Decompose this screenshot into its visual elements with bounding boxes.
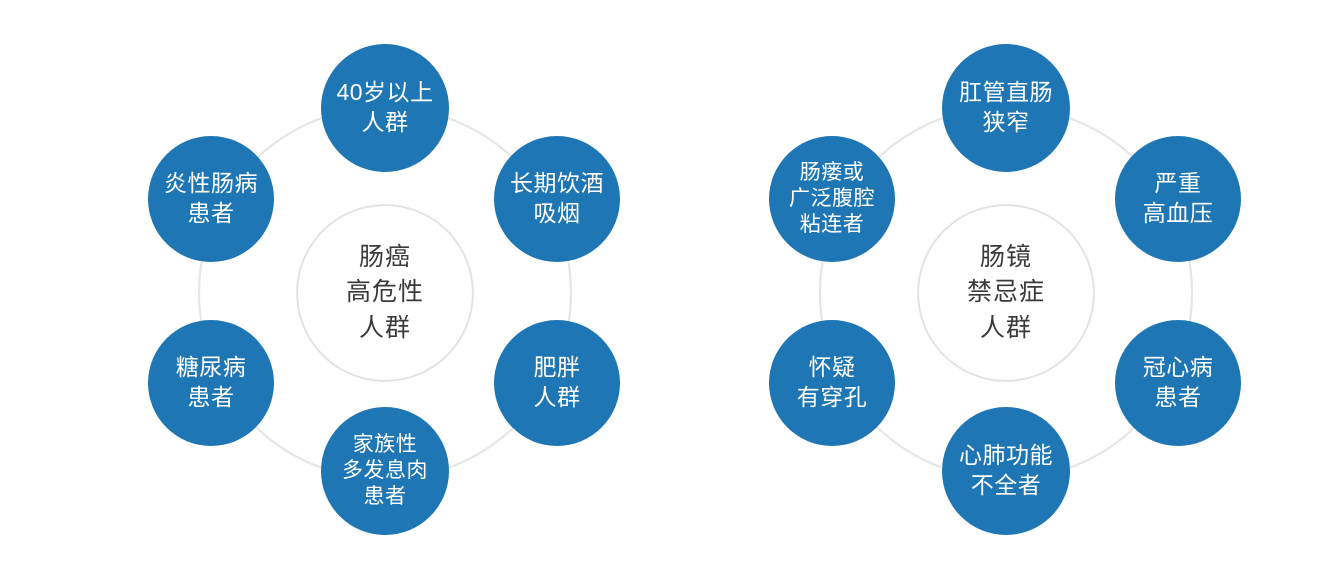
node-label: 严重 高血压: [1137, 169, 1220, 229]
node-label: 冠心病 患者: [1137, 353, 1220, 413]
node-coronary-heart-disease-patients[interactable]: 冠心病 患者: [1115, 320, 1241, 446]
node-severe-hypertension[interactable]: 严重 高血压: [1115, 136, 1241, 262]
node-diabetes-patients[interactable]: 糖尿病 患者: [148, 320, 274, 446]
node-label: 肠瘘或 广泛腹腔 粘连者: [783, 160, 881, 238]
node-label: 心肺功能 不全者: [953, 441, 1059, 501]
node-age-over-40[interactable]: 40岁以上 人群: [321, 44, 449, 172]
node-suspected-perforation[interactable]: 怀疑 有穿孔: [769, 320, 895, 446]
node-label: 肛管直肠 狭窄: [953, 78, 1059, 138]
node-label: 怀疑 有穿孔: [791, 353, 874, 413]
node-inflammatory-bowel-disease-patients[interactable]: 炎性肠病 患者: [148, 136, 274, 262]
node-label: 长期饮酒 吸烟: [504, 169, 610, 229]
node-label: 炎性肠病 患者: [158, 169, 264, 229]
hub-colonoscopy-contraindications: 肠镜 禁忌症 人群: [918, 205, 1094, 381]
node-familial-polyposis-patients[interactable]: 家族性 多发息肉 患者: [321, 407, 449, 535]
diagram-canvas: 肠癌 高危性 人群 40岁以上 人群 长期饮酒 吸烟 肥胖 人群 家族性 多发息…: [0, 0, 1338, 586]
node-long-term-drinking-smoking[interactable]: 长期饮酒 吸烟: [494, 136, 620, 262]
hub-label: 肠癌 高危性 人群: [346, 240, 424, 347]
hub-label: 肠镜 禁忌症 人群: [967, 240, 1045, 347]
node-anal-rectal-stenosis[interactable]: 肛管直肠 狭窄: [942, 44, 1070, 172]
node-label: 40岁以上 人群: [330, 78, 439, 138]
hub-bowel-cancer-high-risk: 肠癌 高危性 人群: [297, 205, 473, 381]
node-obese-population[interactable]: 肥胖 人群: [494, 320, 620, 446]
node-cardiopulmonary-insufficiency[interactable]: 心肺功能 不全者: [942, 407, 1070, 535]
node-label: 家族性 多发息肉 患者: [336, 432, 434, 510]
diagram-bowel-cancer-high-risk: 肠癌 高危性 人群 40岁以上 人群 长期饮酒 吸烟 肥胖 人群 家族性 多发息…: [0, 0, 669, 586]
diagram-colonoscopy-contraindications: 肠镜 禁忌症 人群 肛管直肠 狭窄 严重 高血压 冠心病 患者 心肺功能 不全者…: [669, 0, 1338, 586]
node-intestinal-fistula-or-adhesions[interactable]: 肠瘘或 广泛腹腔 粘连者: [769, 136, 895, 262]
node-label: 糖尿病 患者: [170, 353, 253, 413]
node-label: 肥胖 人群: [528, 353, 587, 413]
